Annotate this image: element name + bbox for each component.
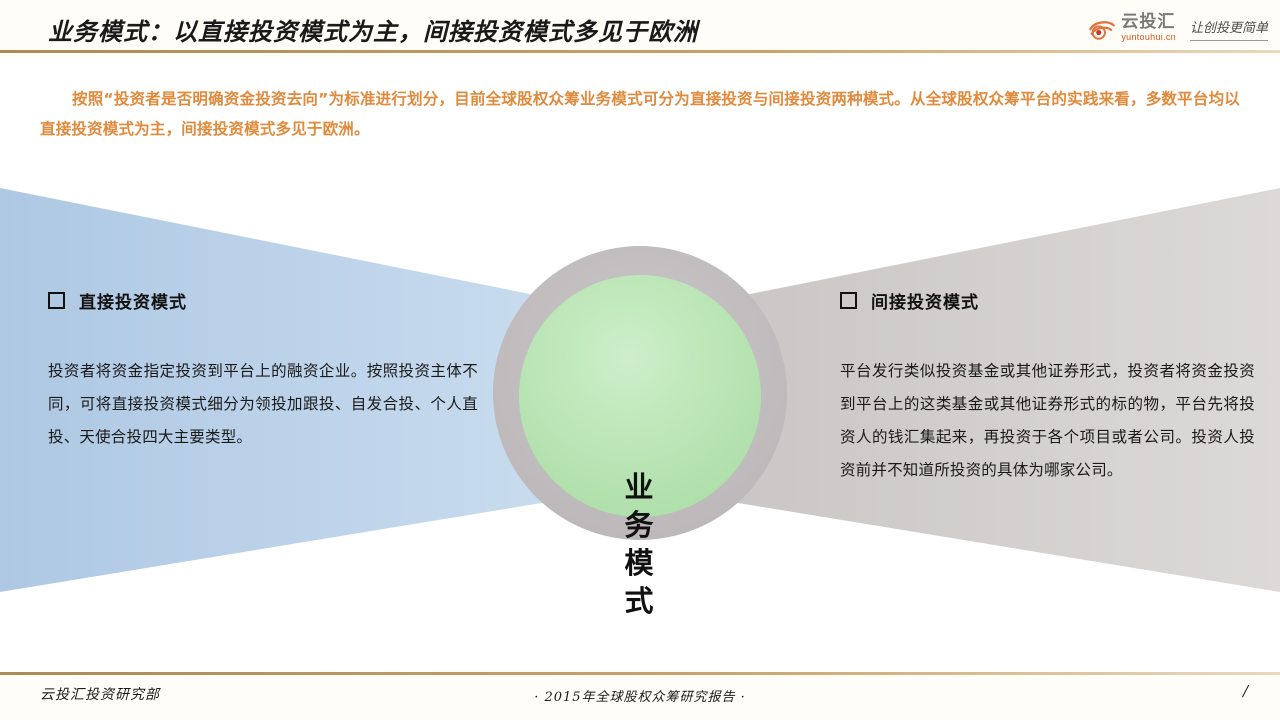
slide-header: 业务模式：以直接投资模式为主，间接投资模式多见于欧洲 云投汇 yuntouhui… [0,0,1280,56]
footer-divider [0,672,1280,675]
logo-brand-en: yuntouhui.cn [1121,33,1176,42]
logo-brand-cn: 云投汇 [1121,14,1176,31]
center-label-char-4: 式 [586,582,694,620]
header-divider [0,50,1280,53]
intro-paragraph: 按照“投资者是否明确资金投资去向”为标准进行划分，目前全球股权众筹业务模式可分为… [40,84,1240,144]
brand-logo: 云投汇 yuntouhui.cn 让创投更简单 [1089,8,1268,48]
eye-swoosh-logo-icon [1089,15,1115,41]
square-bullet-icon [840,292,857,309]
direct-investment-body-text: 投资者将资金指定投资到平台上的融资企业。按照投资主体不同，可将直接投资模式细分为… [48,355,478,454]
square-bullet-icon [48,292,65,309]
center-circle-label: 业 务 模 式 [586,468,694,620]
indirect-investment-heading: 间接投资模式 [840,288,1255,313]
direct-investment-heading: 直接投资模式 [48,288,478,313]
center-label-char-2: 务 [586,506,694,544]
footer-report-title: · 2015年全球股权众筹研究报告 · [0,686,1280,705]
indirect-investment-body: 平台发行类似投资基金或其他证券形式，投资者将资金投资到平台上的这类基金或其他证券… [840,355,1255,487]
indirect-investment-body-text: 平台发行类似投资基金或其他证券形式，投资者将资金投资到平台上的这类基金或其他证券… [840,355,1255,487]
indirect-investment-heading-text: 间接投资模式 [871,288,979,313]
center-label-char-1: 业 [586,468,694,506]
logo-text: 云投汇 yuntouhui.cn [1121,14,1176,42]
logo-slogan: 让创投更简单 [1190,17,1268,39]
center-label-char-3: 模 [586,544,694,582]
footer-page-number: / [1243,682,1248,700]
slide-canvas: 业务模式：以直接投资模式为主，间接投资模式多见于欧洲 云投汇 yuntouhui… [0,0,1280,720]
direct-investment-panel: 直接投资模式 投资者将资金指定投资到平台上的融资企业。按照投资主体不同，可将直接… [48,288,478,454]
direct-investment-body: 投资者将资金指定投资到平台上的融资企业。按照投资主体不同，可将直接投资模式细分为… [48,355,478,454]
direct-investment-heading-text: 直接投资模式 [79,288,187,313]
indirect-investment-panel: 间接投资模式 平台发行类似投资基金或其他证券形式，投资者将资金投资到平台上的这类… [840,288,1255,487]
page-title: 业务模式：以直接投资模式为主，间接投资模式多见于欧洲 [48,12,698,47]
